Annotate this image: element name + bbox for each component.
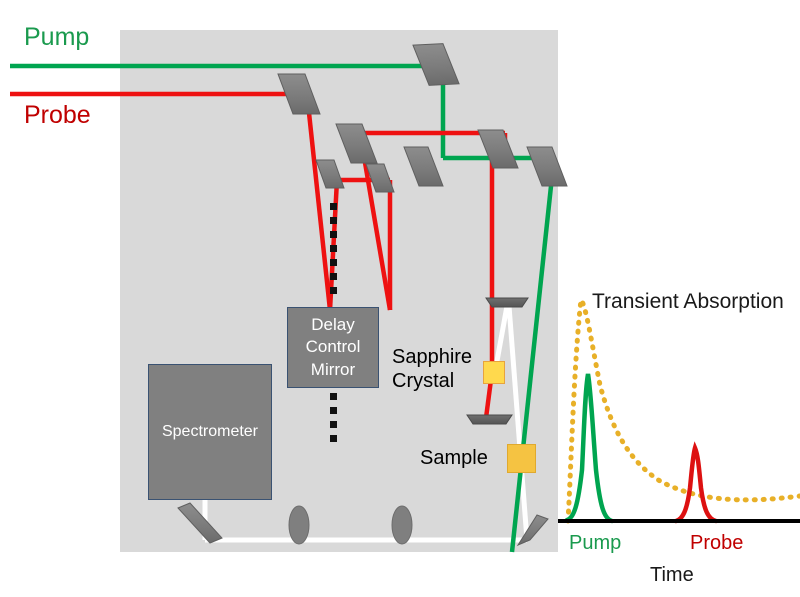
probe-source-label: Probe bbox=[24, 102, 91, 128]
chart-legend-probe: Probe bbox=[690, 533, 743, 554]
chart-legend-pump: Pump bbox=[569, 533, 621, 554]
spectrometer-box[interactable]: Spectrometer bbox=[148, 364, 272, 500]
pump-source-label: Pump bbox=[24, 24, 89, 50]
sapphire-crystal-element[interactable] bbox=[483, 361, 505, 384]
delay-control-mirror-label: Delay Control Mirror bbox=[306, 314, 361, 380]
pump-source-text: Pump bbox=[24, 23, 89, 51]
sapphire-crystal-label: Sapphire Crystal bbox=[392, 345, 472, 394]
sample-cell-element[interactable] bbox=[507, 444, 536, 473]
chart-probe-pulse bbox=[676, 448, 716, 521]
figure-canvas: Spectrometer Delay Control Mirror Pump P… bbox=[0, 0, 800, 597]
chart-legend-pump-text: Pump bbox=[569, 532, 621, 554]
delay-control-mirror-box[interactable]: Delay Control Mirror bbox=[287, 307, 379, 388]
spectrometer-label: Spectrometer bbox=[162, 422, 258, 443]
sapphire-label-line-1: Sapphire bbox=[392, 346, 472, 368]
delay-label-line-1: Delay bbox=[311, 315, 354, 334]
chart-legend-probe-text: Probe bbox=[690, 532, 743, 554]
sapphire-label-line-2: Crystal bbox=[392, 370, 454, 392]
delay-label-line-3: Mirror bbox=[311, 360, 355, 379]
delay-label-line-2: Control bbox=[306, 337, 361, 356]
chart-xaxis-text: Time bbox=[650, 564, 694, 586]
chart-title-text: Transient Absorption bbox=[592, 290, 784, 313]
transient-absorption-curve bbox=[568, 300, 800, 521]
sample-label: Sample bbox=[420, 448, 488, 469]
chart-xaxis-label: Time bbox=[650, 565, 694, 586]
probe-source-text: Probe bbox=[24, 101, 91, 129]
chart-pump-pulse bbox=[567, 374, 612, 521]
sample-label-text: Sample bbox=[420, 447, 488, 469]
chart-title-label: Transient Absorption bbox=[592, 291, 784, 313]
